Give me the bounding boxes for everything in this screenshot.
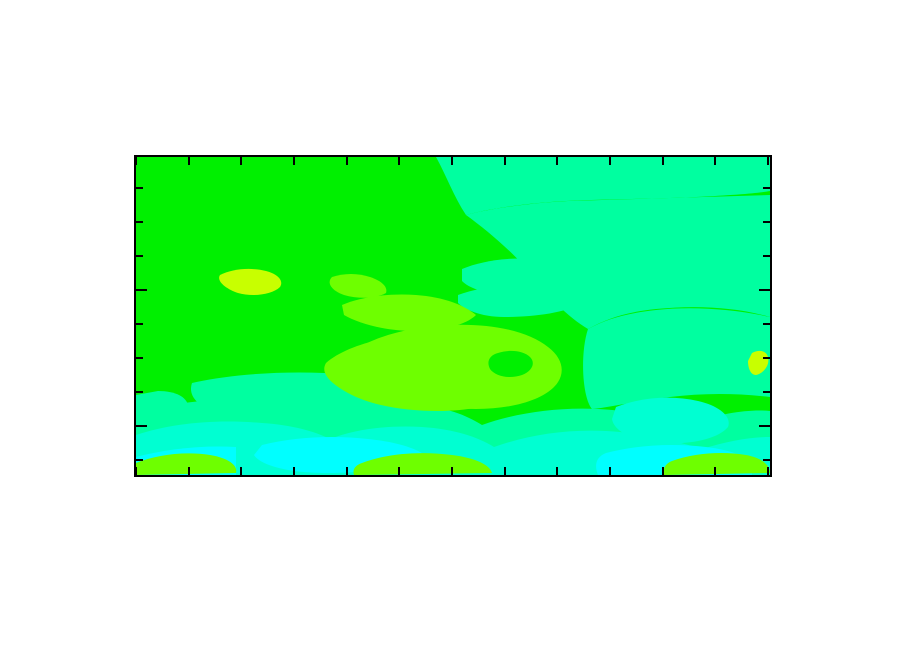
contour-plot-area	[134, 155, 772, 477]
contour-field	[136, 157, 770, 475]
